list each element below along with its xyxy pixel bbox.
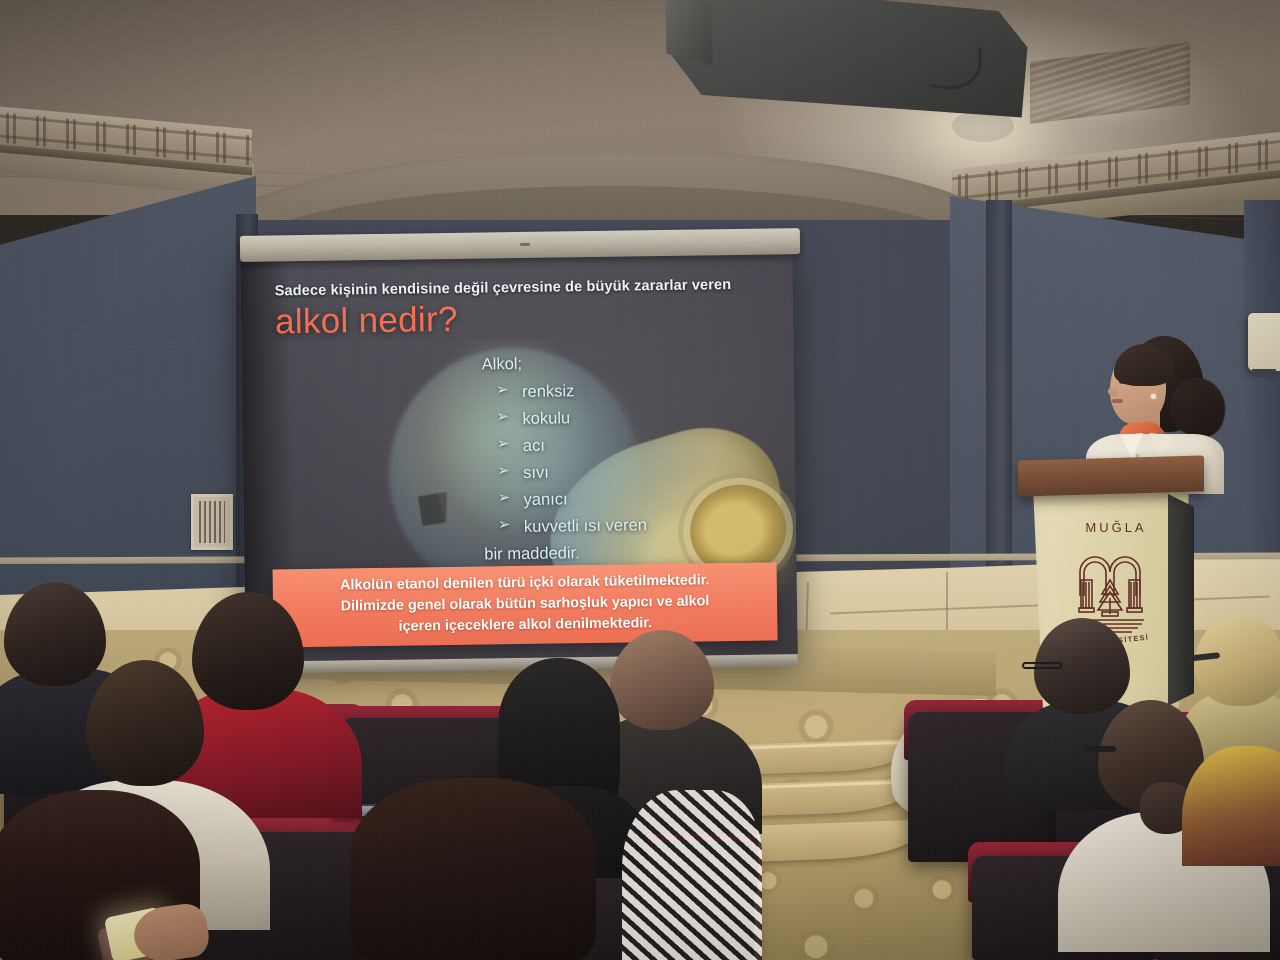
slide-list-lead: Alkol; xyxy=(482,348,772,379)
slide-bullet: acı xyxy=(497,429,773,460)
eyeglasses-icon xyxy=(1084,746,1116,752)
slide-bullet-list: renksiz kokulu acı sıvı yanıcı kuvvetli … xyxy=(496,376,774,541)
slide-bullet-block: Alkol; renksiz kokulu acı sıvı yanıcı ku… xyxy=(482,348,775,569)
audience-member-yellow-scarf xyxy=(1188,740,1280,860)
presenter-earring xyxy=(1151,394,1156,399)
audience-scarf xyxy=(1182,746,1280,866)
audience-hair xyxy=(350,778,596,960)
wall-ac-unit xyxy=(1248,313,1280,371)
audience-member-patterned-top xyxy=(622,780,752,960)
eyeglasses-icon xyxy=(1022,662,1062,669)
ceiling-light-glow xyxy=(1020,78,1200,126)
slide-bullet: renksiz xyxy=(496,376,772,407)
audience-head xyxy=(86,660,204,786)
wall-air-vent xyxy=(191,494,233,550)
slide-bullet: sıvı xyxy=(497,456,773,487)
slide-bullet: kuvvetli ısı veren xyxy=(498,510,774,541)
audience-head xyxy=(1194,614,1280,706)
wall-right-edge xyxy=(1244,200,1280,600)
slide-bullet: kokulu xyxy=(496,402,772,433)
university-logo-wordmark: MUĞLA xyxy=(1064,520,1168,535)
slide-title: alkol nedir? xyxy=(275,297,771,341)
auditorium-photo: Sadece kişinin kendisine değil çevresine… xyxy=(0,0,1280,960)
slide-bullet: yanıcı xyxy=(497,483,773,514)
audience-garment-pattern xyxy=(622,790,762,960)
audience-member-longhair-center xyxy=(350,778,600,960)
presenter-lips xyxy=(1112,399,1123,403)
projector-lens xyxy=(665,0,712,66)
presenter-nose xyxy=(1108,387,1118,396)
lectern-top xyxy=(1018,455,1204,496)
wall-pillar-right xyxy=(986,200,1012,600)
